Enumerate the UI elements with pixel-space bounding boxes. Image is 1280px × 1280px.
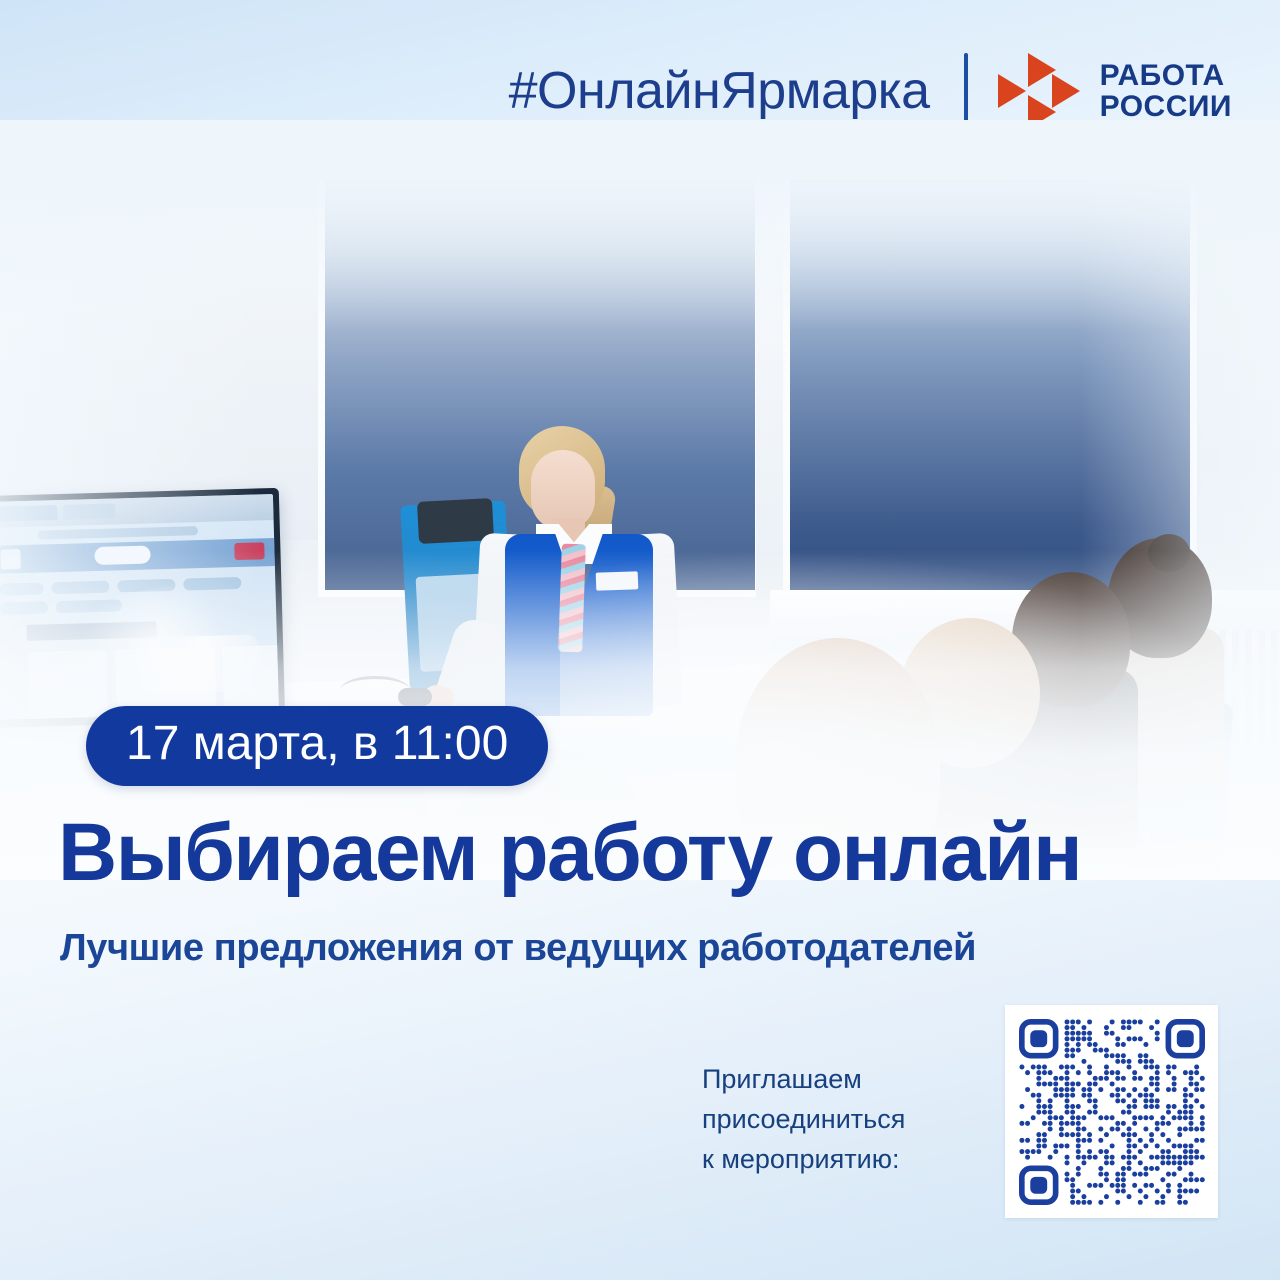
brand-lockup: РАБОТА РОССИИ: [998, 52, 1232, 130]
four-triangles-logo-icon: [998, 52, 1082, 130]
brand-line-1: РАБОТА: [1100, 60, 1232, 91]
vertical-divider-icon: [964, 53, 968, 129]
brand-name: РАБОТА РОССИИ: [1100, 60, 1232, 122]
brand-line-2: РОССИИ: [1100, 91, 1232, 122]
page-subtitle: Лучшие предложения от ведущих работодате…: [60, 928, 1240, 970]
invite-line-2: присоединиться: [702, 1100, 952, 1140]
page-title: Выбираем работу онлайн: [58, 812, 1248, 894]
invite-text: Приглашаем присоединиться к мероприятию:: [702, 1060, 952, 1180]
hashtag-text: #ОнлайнЯрмарка: [509, 65, 930, 117]
invite-line-3: к мероприятию:: [702, 1140, 952, 1180]
poster-canvas: #ОнлайнЯрмарка РАБОТА РОССИИ: [0, 0, 1280, 1280]
qr-code-icon[interactable]: [1019, 1019, 1205, 1205]
invite-line-1: Приглашаем: [702, 1060, 952, 1100]
date-time-badge: 17 марта, в 11:00: [86, 706, 548, 786]
qr-code-card[interactable]: [1005, 1005, 1218, 1218]
